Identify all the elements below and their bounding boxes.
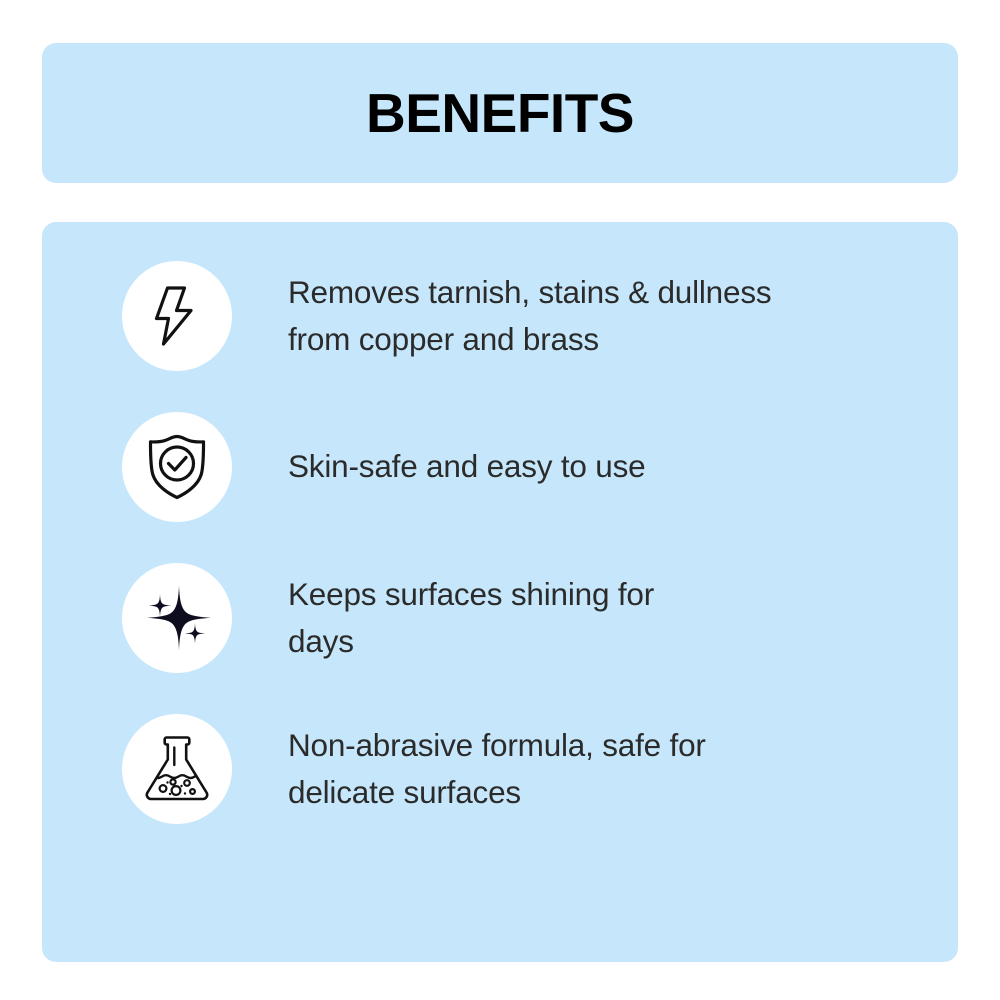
shield-check-icon: [122, 412, 232, 522]
benefit-row: Skin-safe and easy to use: [42, 391, 958, 542]
flask-icon: [122, 714, 232, 824]
benefit-row: Keeps surfaces shining for days: [42, 542, 958, 693]
benefits-infographic: BENEFITS Removes tarnish, stains & dulln…: [0, 0, 1000, 1000]
benefit-text: Keeps surfaces shining for days: [288, 571, 654, 665]
header-card: BENEFITS: [42, 43, 958, 183]
benefit-text: Removes tarnish, stains & dullness from …: [288, 269, 771, 363]
sparkle-icon: [122, 563, 232, 673]
page-title: BENEFITS: [366, 86, 634, 141]
benefit-text: Skin-safe and easy to use: [288, 443, 645, 490]
benefit-text: Non-abrasive formula, safe for delicate …: [288, 722, 706, 816]
benefits-card: Removes tarnish, stains & dullness from …: [42, 222, 958, 962]
lightning-bolt-icon: [122, 261, 232, 371]
benefit-row: Non-abrasive formula, safe for delicate …: [42, 693, 958, 844]
card-gap: [42, 183, 958, 222]
benefit-row: Removes tarnish, stains & dullness from …: [42, 240, 958, 391]
